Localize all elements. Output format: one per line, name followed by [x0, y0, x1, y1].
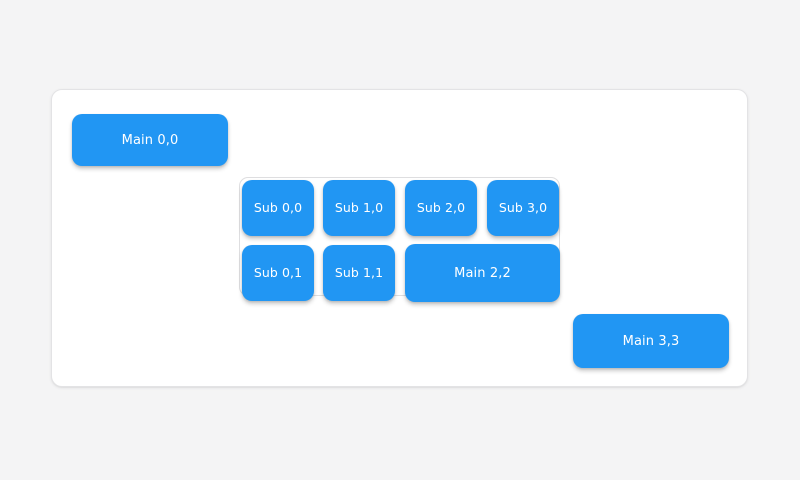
sub-button-2-0[interactable]: Sub 2,0 [405, 180, 477, 236]
sub-button-0-0[interactable]: Sub 0,0 [242, 180, 314, 236]
main-button-0-0[interactable]: Main 0,0 [72, 114, 228, 166]
sub-button-3-0[interactable]: Sub 3,0 [487, 180, 559, 236]
main-card-panel: Main 0,0 Sub 0,0 Sub 1,0 Sub 2,0 Sub 3,0… [51, 89, 748, 387]
sub-button-0-1[interactable]: Sub 0,1 [242, 245, 314, 301]
main-button-2-2[interactable]: Main 2,2 [405, 244, 560, 302]
sub-button-1-1[interactable]: Sub 1,1 [323, 245, 395, 301]
sub-button-1-0[interactable]: Sub 1,0 [323, 180, 395, 236]
main-button-3-3[interactable]: Main 3,3 [573, 314, 729, 368]
sub-grid-container: Sub 0,0 Sub 1,0 Sub 2,0 Sub 3,0 Sub 0,1 … [239, 177, 560, 296]
